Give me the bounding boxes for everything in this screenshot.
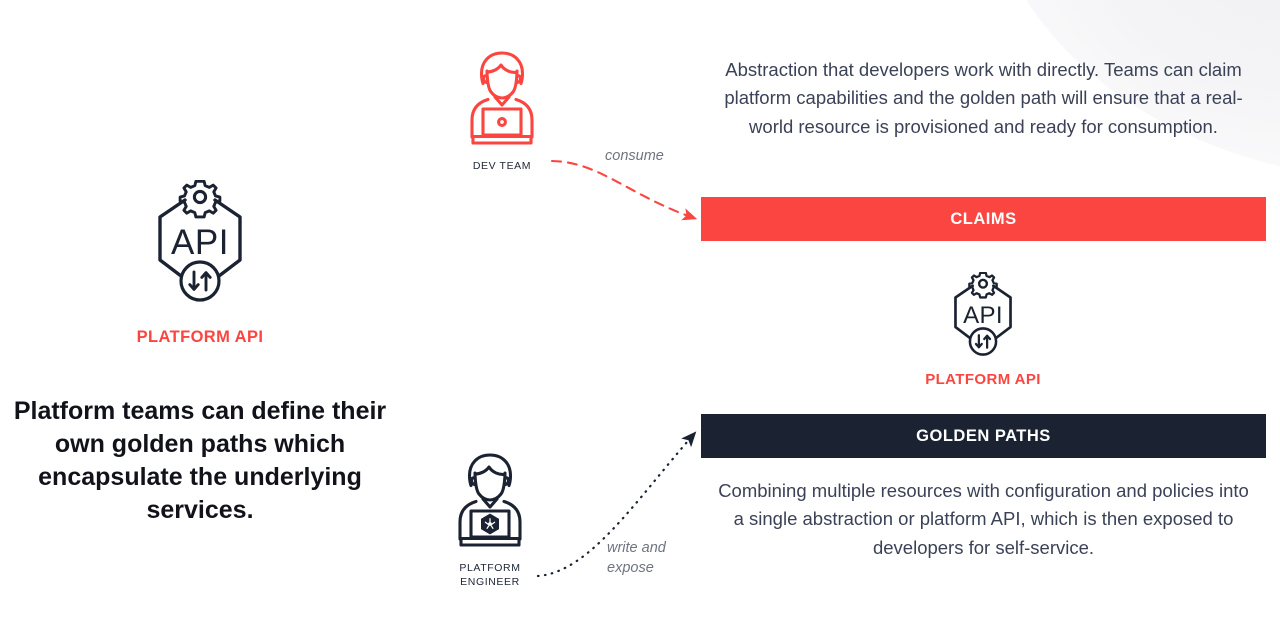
kubernetes-icon (482, 514, 499, 533)
developer-with-laptop-icon (456, 137, 548, 154)
left-headline: Platform teams can define their own gold… (0, 395, 400, 527)
platform-engineer-caption: PLATFORM ENGINEER (425, 561, 555, 589)
platform-engineer-with-laptop-icon (444, 539, 536, 556)
dev-team-caption: DEV TEAM (437, 159, 567, 173)
exchange-arrows-icon (970, 328, 996, 354)
claims-description-text: Abstraction that developers work with di… (711, 56, 1256, 141)
consume-arrow (552, 161, 694, 218)
platform-engineer-caption-line1: PLATFORM (425, 561, 555, 575)
api-hexagon-text: API (171, 223, 229, 262)
exchange-arrows-icon (181, 262, 219, 300)
api-hexagon-icon: API (0, 180, 400, 310)
write-and-expose-arrow-label: write and expose (607, 538, 697, 578)
platform-api-node-left: API PLATFORM API (0, 180, 400, 347)
claims-bar[interactable]: CLAIMS (701, 197, 1266, 241)
api-hexagon-text: API (963, 302, 1003, 329)
golden-paths-bar[interactable]: GOLDEN PATHS (701, 414, 1266, 458)
api-hexagon-icon: API (945, 345, 1021, 362)
platform-api-node-center: API PLATFORM API (918, 272, 1048, 388)
consume-arrow-label: consume (605, 146, 664, 166)
platform-engineer-node: PLATFORM ENGINEER (425, 447, 555, 589)
dev-team-node: DEV TEAM (437, 45, 567, 173)
platform-engineer-caption-line2: ENGINEER (425, 575, 555, 589)
golden-paths-description-text: Combining multiple resources with config… (711, 477, 1256, 562)
platform-api-label-center: PLATFORM API (918, 371, 1048, 388)
diagram-canvas: API PLATFORM API (0, 0, 1280, 623)
platform-api-label-left: PLATFORM API (0, 328, 400, 347)
